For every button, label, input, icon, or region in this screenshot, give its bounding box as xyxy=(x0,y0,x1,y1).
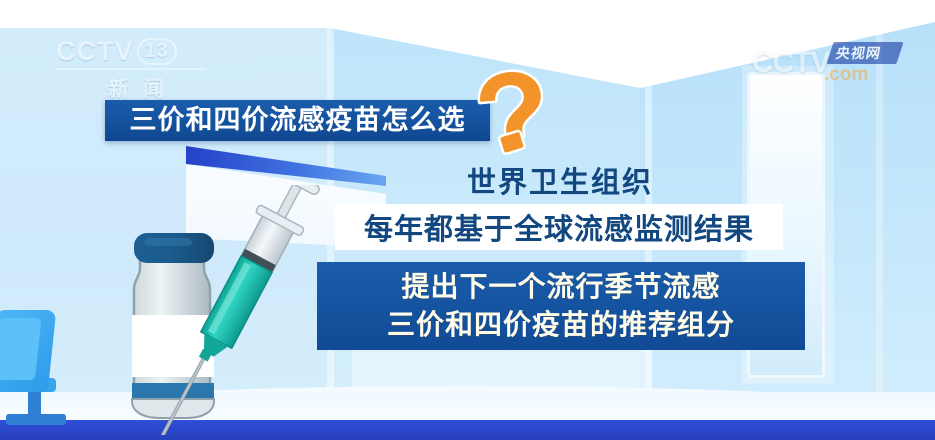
highlight-line-1: 提出下一个流行季节流感 xyxy=(401,269,720,305)
cctv-com-watermark: CCTV 央视网 .com xyxy=(752,40,932,86)
vaccine-illustration xyxy=(110,185,350,435)
channel-logo-name: CCTV13 xyxy=(56,36,216,67)
channel-logo-text: CCTV xyxy=(56,36,134,66)
white-band-text: 每年都基于全球流感监测结果 xyxy=(364,206,754,248)
clinic-chair xyxy=(0,310,56,392)
organization-line: 世界卫生组织 xyxy=(335,160,785,200)
organization-text: 世界卫生组织 xyxy=(467,159,653,201)
white-text-band: 每年都基于全球流感监测结果 xyxy=(335,204,783,250)
watermark-domain: .com xyxy=(824,64,868,86)
chair-stem xyxy=(28,388,41,418)
channel-logo-sub: 新闻 xyxy=(56,73,216,103)
highlight-blue-box: 提出下一个流行季节流感 三价和四价疫苗的推荐组分 xyxy=(317,262,805,350)
chair-back-inner xyxy=(0,318,41,380)
question-mark-icon xyxy=(466,62,558,159)
highlight-line-2: 三价和四价疫苗的推荐组分 xyxy=(387,307,735,343)
watermark-badge-label: 央视网 xyxy=(834,43,904,63)
channel-logo: CCTV13 新闻 xyxy=(56,36,216,100)
watermark-text: CCTV xyxy=(752,46,830,80)
broadcast-frame: CCTV13 新闻 CCTV 央视网 .com 三价和四价流感疫苗怎么选 世界卫… xyxy=(0,0,935,440)
channel-logo-rule xyxy=(56,68,206,70)
headline-text: 三价和四价流感疫苗怎么选 xyxy=(130,107,466,134)
channel-number: 13 xyxy=(137,38,177,65)
headline-banner: 三价和四价流感疫苗怎么选 xyxy=(105,100,490,141)
vaccine-vial xyxy=(132,233,214,418)
